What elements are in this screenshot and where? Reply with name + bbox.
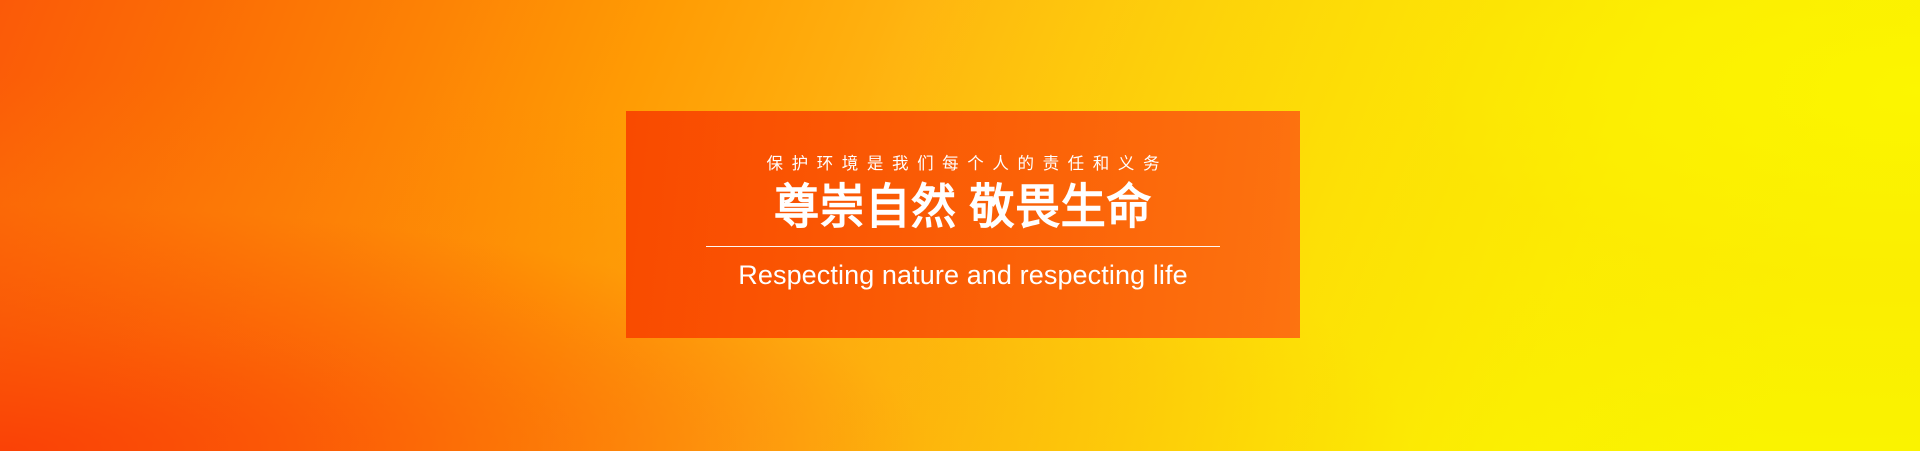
environment-banner: 保护环境是我们每个人的责任和义务 尊崇自然 敬畏生命 Respecting na… (0, 0, 1920, 451)
divider-rule (706, 246, 1220, 247)
slogan-card-content: 保护环境是我们每个人的责任和义务 尊崇自然 敬畏生命 Respecting na… (626, 155, 1300, 290)
headline-text: 尊崇自然 敬畏生命 (774, 184, 1152, 233)
tagline-text: 保护环境是我们每个人的责任和义务 (758, 155, 1168, 173)
slogan-card: 保护环境是我们每个人的责任和义务 尊崇自然 敬畏生命 Respecting na… (626, 111, 1300, 338)
subtitle-text: Respecting nature and respecting life (738, 261, 1187, 290)
